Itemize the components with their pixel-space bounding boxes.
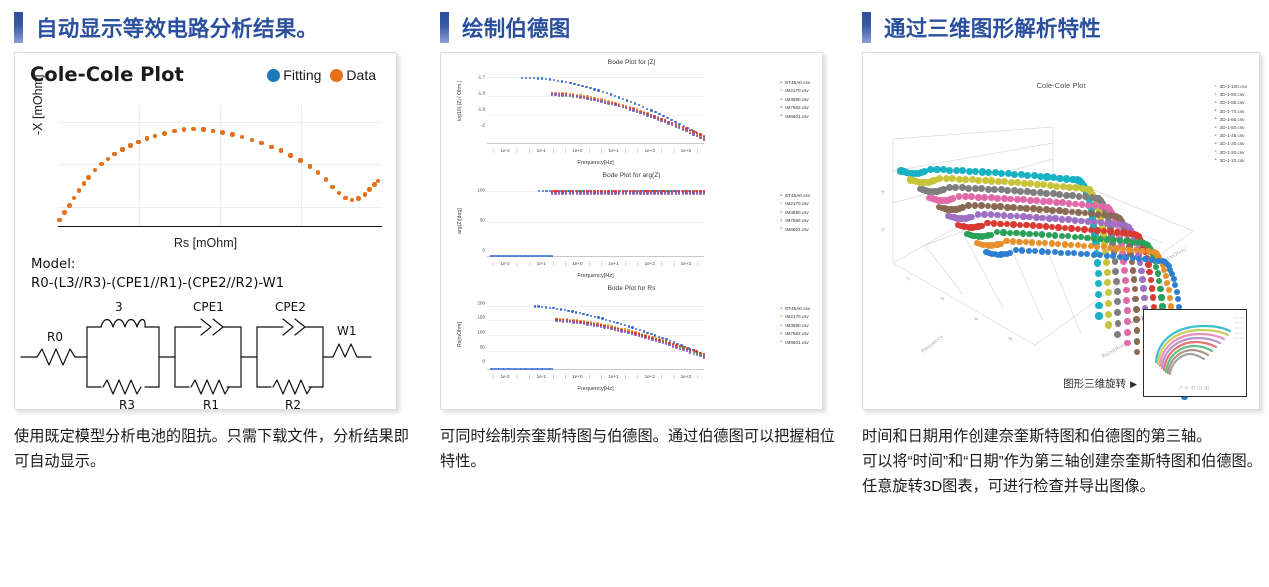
data-point-3d [1117, 254, 1123, 260]
data-point [136, 140, 141, 145]
data-point [308, 164, 313, 169]
data-point [576, 95, 578, 97]
rotate-3d-label: 图形三维旋转▶ [1063, 376, 1137, 391]
legend-marker-icon: • [780, 106, 782, 111]
card-cole-cole: Cole-Cole Plot Fitting Data -X [mOhm] [14, 52, 397, 410]
data-point [648, 338, 650, 340]
data-point [534, 305, 536, 307]
data-point [372, 182, 377, 187]
data-point [93, 168, 98, 173]
data-point [537, 305, 539, 307]
legend-item-3d: •3D-1-10.csv [1215, 157, 1247, 165]
data-point [337, 191, 342, 196]
data-point-3d [1174, 289, 1180, 295]
data-point [696, 192, 698, 194]
data-point [662, 115, 664, 117]
data-point [182, 127, 187, 132]
data-point-3d [1136, 256, 1142, 262]
legend-marker-icon: • [780, 307, 782, 312]
legend-item-3d: •3D-1-100.csv [1215, 83, 1247, 91]
data-point [558, 192, 560, 194]
data-point [643, 192, 645, 194]
circuit-diagram: R0 3 R3 CPE1 R1 CPE2 R2 W1 [15, 295, 396, 410]
bode-legend-item: •IM7582.csv [780, 104, 810, 112]
bode-legend-label: IM6601.csv [785, 113, 809, 121]
legend-marker-icon: • [1215, 85, 1217, 90]
data-point-3d [1114, 288, 1121, 295]
data-point [559, 320, 561, 322]
data-point [664, 192, 666, 194]
axis-tick-label: 1e-2 [500, 374, 509, 379]
data-point [597, 316, 599, 318]
bode-legend-item: •IM2170.csv [780, 200, 810, 208]
caption-1: 使用既定模型分析电池的阻抗。只需下载文件，分析结果即可自动显示。 [14, 424, 414, 474]
data-point [561, 94, 563, 96]
data-point [614, 192, 616, 194]
legend-item-3d: •3D-1-85.csv [1215, 99, 1247, 107]
bode-legend-label: IM3590.csv [785, 96, 809, 104]
axis-minor-tick: | [661, 374, 662, 379]
axis-minor-tick: | [625, 148, 626, 153]
data-point [618, 96, 620, 98]
bode-plots-wrap: Bode Plot for |Z| log10( |Z| / Ohm ) 1e-… [441, 53, 822, 396]
data-point [324, 177, 329, 182]
data-point [638, 335, 640, 337]
legend-marker-icon: • [1215, 134, 1217, 139]
axis-minor-tick: | [565, 261, 566, 266]
data-point-3d [1113, 278, 1120, 285]
bode-legend-item: •ET45A0.csv [780, 192, 810, 200]
data-point [279, 148, 284, 153]
data-point [660, 120, 662, 122]
bode-title-phase: Bode Plot for arg(Z) [447, 172, 816, 179]
data-point-3d [1056, 191, 1063, 198]
data-point-3d [1010, 238, 1016, 244]
data-point [145, 136, 150, 141]
circuit-label-r2: R2 [285, 398, 301, 410]
data-point-3d [1058, 250, 1064, 256]
bode-legend-rs: •ET45A0.csv•IM2170.csv•IM3590.csv•IM7582… [780, 305, 810, 347]
legend-item-3d: •3D-1-60.csv [1215, 116, 1247, 124]
data-point-3d [1010, 221, 1016, 227]
data-point [614, 104, 616, 106]
data-point-3d [1104, 253, 1110, 259]
bode-plot-rs: Bode Plot for Rs Rs[mOhm] 1e-2||1e-1||1e… [447, 283, 816, 396]
bode-xlabel-rs: Frequency[Hz] [487, 386, 704, 392]
data-point [569, 192, 571, 194]
axis-minor-tick: | [553, 148, 554, 153]
data-point-3d [1026, 248, 1032, 254]
legend-marker-icon: • [1215, 142, 1217, 147]
data-point [585, 86, 587, 88]
data-point [641, 336, 643, 338]
data-point [679, 348, 681, 350]
legend-marker-icon: • [1215, 158, 1217, 163]
legend-label-3d: 3D-1-60.csv [1220, 116, 1245, 124]
data-point-3d [984, 220, 990, 226]
legend-marker-icon: • [780, 98, 782, 103]
data-point [664, 121, 666, 123]
data-point-3d [1043, 223, 1049, 229]
axis-tick-label: 1e+0 [572, 148, 582, 153]
data-point [685, 192, 687, 194]
data-point [644, 337, 646, 339]
data-point [632, 192, 634, 194]
data-point [579, 312, 581, 314]
data-point-3d [1068, 225, 1074, 231]
data-point [67, 203, 72, 208]
legend-label-3d: 3D-1-20.csv [1220, 149, 1245, 157]
plot-3d-inset-thumbnail[interactable]: ↗ ⌖ ⟲ ⊡ ⊞ [1143, 309, 1247, 397]
data-point [586, 97, 588, 99]
heading-1: 自动显示等效电路分析结果。 [14, 0, 424, 46]
data-point [220, 130, 225, 135]
axis-tick-label: 200 [473, 300, 485, 305]
data-point-3d [1062, 241, 1068, 247]
data-point-3d [1065, 250, 1071, 256]
legend-marker-icon: • [1215, 126, 1217, 131]
data-point [269, 145, 274, 150]
data-point [597, 99, 599, 101]
legend-marker-icon: • [780, 340, 782, 345]
circuit-label-l3: 3 [115, 300, 123, 314]
data-point [636, 110, 638, 112]
data-point [590, 315, 592, 317]
axis-minor-tick: | [516, 148, 517, 153]
data-point [120, 147, 125, 152]
data-point [569, 321, 571, 323]
data-point [551, 93, 553, 95]
data-point-3d [978, 202, 985, 209]
data-point [654, 111, 656, 113]
data-point-3d [1091, 252, 1097, 258]
data-point [573, 83, 575, 85]
axis-tick-label: -2 [473, 123, 485, 128]
bode-legend-item: •IM3590.csv [780, 209, 810, 217]
data-point-3d [1150, 294, 1156, 300]
heading-2-text: 绘制伯德图 [462, 12, 571, 43]
data-point [316, 170, 321, 175]
data-point-3d [1139, 248, 1145, 254]
data-point [628, 325, 630, 327]
bode-legend-item: •IM6601.csv [780, 226, 810, 234]
data-point [631, 326, 633, 328]
data-point-3d [1095, 270, 1102, 277]
axis-tick-label: 150 [473, 315, 485, 320]
data-point [634, 102, 636, 104]
data-point [601, 317, 603, 319]
data-point [106, 157, 111, 162]
data-point-3d [1158, 294, 1164, 300]
data-point [672, 345, 674, 347]
axis-tick-label: 1e-2 [500, 148, 509, 153]
data-point [620, 323, 622, 325]
axis-minor-tick: | [673, 374, 674, 379]
circuit-model-text: Model: R0-(L3//R3)-(CPE1//R1)-(CPE2//R2)… [31, 255, 396, 293]
data-point [603, 326, 605, 328]
bode-area-magnitude: 1e-2||1e-1||1e+0||1e+1||1e+2||1e+3||-1.7… [487, 71, 704, 144]
rotate-3d-text: 图形三维旋转 [1063, 378, 1126, 390]
bode-legend-label: IM2170.csv [785, 313, 809, 321]
data-point [624, 331, 626, 333]
data-point [643, 330, 645, 332]
data-point [72, 196, 77, 201]
data-point [579, 192, 581, 194]
data-point [569, 94, 571, 96]
cole-cole-plot: -X [mOhm] Rs [mOhm] [25, 99, 386, 249]
svg-text:6: 6 [973, 316, 980, 322]
data-point [600, 192, 602, 194]
legend-marker-icon: • [780, 219, 782, 224]
data-point-3d [1016, 239, 1022, 245]
data-point [625, 107, 627, 109]
data-point [611, 103, 613, 105]
data-point [626, 99, 628, 101]
legend-label-3d: 3D-1-85.csv [1220, 99, 1245, 107]
legend-marker-icon: • [1215, 93, 1217, 98]
axis-minor-tick: | [589, 148, 590, 153]
data-point [330, 185, 335, 190]
data-point-3d [1115, 320, 1122, 327]
bode-legend-label: IM6601.csv [785, 226, 809, 234]
legend-item-3d: •3D-1-50.csv [1215, 124, 1247, 132]
data-point [620, 330, 622, 332]
legend-marker-icon: • [780, 202, 782, 207]
cole-cole-xlabel: Rs [mOhm] [25, 236, 386, 250]
legend-marker-icon: • [780, 81, 782, 86]
bode-plot-phase: Bode Plot for arg(Z) arg(Z)[deg] 1e-2||1… [447, 170, 816, 283]
data-point [609, 320, 611, 322]
axis-minor-tick: | [493, 261, 494, 266]
legend-marker-icon: • [1215, 109, 1217, 114]
data-point-3d [1105, 300, 1112, 307]
bode-ylabel-rs: Rs[mOhm] [457, 322, 463, 347]
data-point [298, 158, 303, 163]
data-point [670, 119, 672, 121]
feature-showcase-page: 自动显示等效电路分析结果。 Cole-Cole Plot Fitting Dat… [0, 0, 1269, 587]
data-point [646, 108, 648, 110]
data-point-3d [997, 221, 1003, 227]
data-point [632, 109, 634, 111]
data-point-3d [1078, 218, 1085, 225]
caption-3-line-2: 可以将“时间”和“日期”作为第三轴创建奈奎斯特图和伯德图。任意旋转3D图表，可进… [862, 449, 1262, 499]
data-point [622, 98, 624, 100]
data-point [604, 192, 606, 194]
data-point [699, 192, 701, 194]
data-point [618, 105, 620, 107]
data-point [667, 122, 669, 124]
legend-marker-icon: • [780, 194, 782, 199]
bode-legend-label: IM3590.csv [785, 322, 809, 330]
data-point [660, 192, 662, 194]
data-point [549, 78, 551, 80]
data-point [692, 130, 694, 132]
caption-3: 时间和日期用作创建奈奎斯特图和伯德图的第三轴。 可以将“时间”和“日期”作为第三… [862, 424, 1262, 499]
data-point-3d [1036, 223, 1042, 229]
data-point [699, 355, 701, 357]
data-point [622, 192, 624, 194]
bode-legend-label: IM2170.csv [785, 200, 809, 208]
data-point-3d [1055, 224, 1061, 230]
axis-tick-label: 1e+2 [645, 374, 655, 379]
data-point [112, 152, 117, 157]
axis-minor-tick: | [565, 148, 566, 153]
legend-marker-icon: • [1215, 150, 1217, 155]
data-point [600, 326, 602, 328]
data-point [607, 327, 609, 329]
data-point-3d [1130, 255, 1136, 261]
data-point [636, 192, 638, 194]
legend-label-data: Data [346, 67, 376, 83]
data-point [82, 181, 87, 186]
legend-label-3d: 3D-1-90.csv [1220, 91, 1245, 99]
data-point [635, 328, 637, 330]
data-point-3d [1007, 213, 1014, 220]
svg-text:2: 2 [905, 276, 912, 282]
data-point-3d [1146, 269, 1152, 275]
plot-3d-legend: •3D-1-100.csv•3D-1-90.csv•3D-1-85.csv•3D… [1215, 83, 1247, 165]
data-point [675, 192, 677, 194]
data-point [616, 322, 618, 324]
bode-legend-item: •IM7582.csv [780, 330, 810, 338]
data-point [541, 77, 543, 79]
data-point [657, 118, 659, 120]
data-point [682, 128, 684, 130]
data-point [557, 80, 559, 82]
data-point [201, 127, 206, 132]
data-point-3d [1013, 230, 1019, 236]
circuit-label-w1: W1 [337, 324, 357, 338]
data-point-3d [1149, 285, 1155, 291]
data-point-3d [1003, 238, 1009, 244]
legend-item-3d: •3D-1-90.csv [1215, 91, 1247, 99]
data-point [356, 196, 361, 201]
axis-tick-label: 1e+1 [608, 261, 618, 266]
data-point [579, 322, 581, 324]
data-point [650, 109, 652, 111]
data-point [521, 77, 523, 79]
data-point [602, 91, 604, 93]
data-point [625, 192, 627, 194]
data-point [594, 316, 596, 318]
axis-minor-tick: | [553, 374, 554, 379]
data-point [638, 104, 640, 106]
data-point [560, 308, 562, 310]
caption-3-line-1: 时间和日期用作创建奈奎斯特图和伯德图的第三轴。 [862, 424, 1262, 449]
data-point [692, 192, 694, 194]
axis-tick-label: 50 [473, 344, 485, 349]
data-point [596, 325, 598, 327]
data-point-3d [1085, 202, 1092, 209]
bode-area-phase: 1e-2||1e-1||1e+0||1e+1||1e+2||1e+3||1005… [487, 184, 704, 257]
data-point [576, 192, 578, 194]
data-point [646, 192, 648, 194]
data-point [577, 84, 579, 86]
legend-label-3d: 3D-1-10.csv [1220, 157, 1245, 165]
data-point [642, 106, 644, 108]
data-point-3d [1101, 212, 1108, 219]
data-point-3d [1020, 230, 1026, 236]
data-point-3d [1117, 237, 1123, 243]
data-point-3d [1094, 227, 1100, 233]
data-point-3d [1155, 270, 1161, 276]
data-point-3d [1007, 230, 1013, 236]
axis-tick-label: 1e+2 [645, 261, 655, 266]
data-point [259, 141, 264, 146]
axis-minor-tick: | [697, 374, 698, 379]
data-point-3d [1091, 219, 1098, 226]
data-point-3d [1072, 234, 1078, 240]
data-point-3d [1097, 236, 1103, 242]
bode-legend-item: •ET45A0.csv [780, 305, 810, 313]
data-point [693, 353, 695, 355]
bode-legend-item: •IM6601.csv [780, 339, 810, 347]
column-bode-plot: 绘制伯德图 Bode Plot for |Z| log10( |Z| / Ohm… [440, 0, 850, 587]
axis-tick-label: 1e-1 [537, 148, 546, 153]
data-point-3d [1062, 208, 1069, 215]
axis-minor-tick: | [601, 261, 602, 266]
data-point [699, 137, 701, 139]
data-point-3d [1000, 229, 1006, 235]
legend-label-3d: 3D-1-70.csv [1220, 108, 1245, 116]
data-point [629, 192, 631, 194]
data-point-3d [1107, 228, 1113, 234]
legend-dot-fitting [267, 69, 280, 82]
data-point-3d [1036, 240, 1042, 246]
data-point [583, 97, 585, 99]
data-point [682, 192, 684, 194]
axis-minor-tick: | [697, 148, 698, 153]
data-point-3d [1123, 297, 1130, 304]
data-point [646, 114, 648, 116]
data-point [696, 354, 698, 356]
legend-label-3d: 3D-1-45.csv [1220, 132, 1245, 140]
data-point [613, 321, 615, 323]
data-point [699, 133, 701, 135]
data-point [685, 130, 687, 132]
bode-title-magnitude: Bode Plot for |Z| [447, 59, 816, 66]
data-point-3d [1124, 307, 1131, 314]
data-point [529, 77, 531, 79]
bode-xlabel-phase: Frequency[Hz] [487, 273, 704, 279]
data-point-3d [1141, 295, 1148, 302]
axis-minor-tick: | [697, 261, 698, 266]
plot-3d: Cole-Cole Plot -X -X 2 [863, 53, 1259, 409]
circuit-label-r1: R1 [203, 398, 219, 410]
svg-text:4: 4 [939, 296, 946, 302]
data-point [572, 321, 574, 323]
data-point [651, 339, 653, 341]
bode-legend-label: ET45A0.csv [785, 305, 810, 313]
cole-cole-ylabel: -X [mOhm] [31, 75, 45, 135]
legend-marker-icon: • [780, 227, 782, 232]
axis-tick-label: 1e+0 [572, 261, 582, 266]
data-point-3d [1134, 327, 1141, 334]
data-point [363, 192, 368, 197]
axis-tick-label: 0 [473, 359, 485, 364]
axis-minor-tick: | [637, 374, 638, 379]
axis-minor-tick: | [553, 261, 554, 266]
data-point [606, 92, 608, 94]
cole-cole-plot-area [58, 105, 382, 227]
axis-minor-tick: | [493, 374, 494, 379]
svg-text:-X: -X [879, 188, 887, 196]
data-point [586, 314, 588, 316]
data-point [624, 324, 626, 326]
data-point [581, 85, 583, 87]
axis-minor-tick: | [625, 261, 626, 266]
data-point [657, 192, 659, 194]
